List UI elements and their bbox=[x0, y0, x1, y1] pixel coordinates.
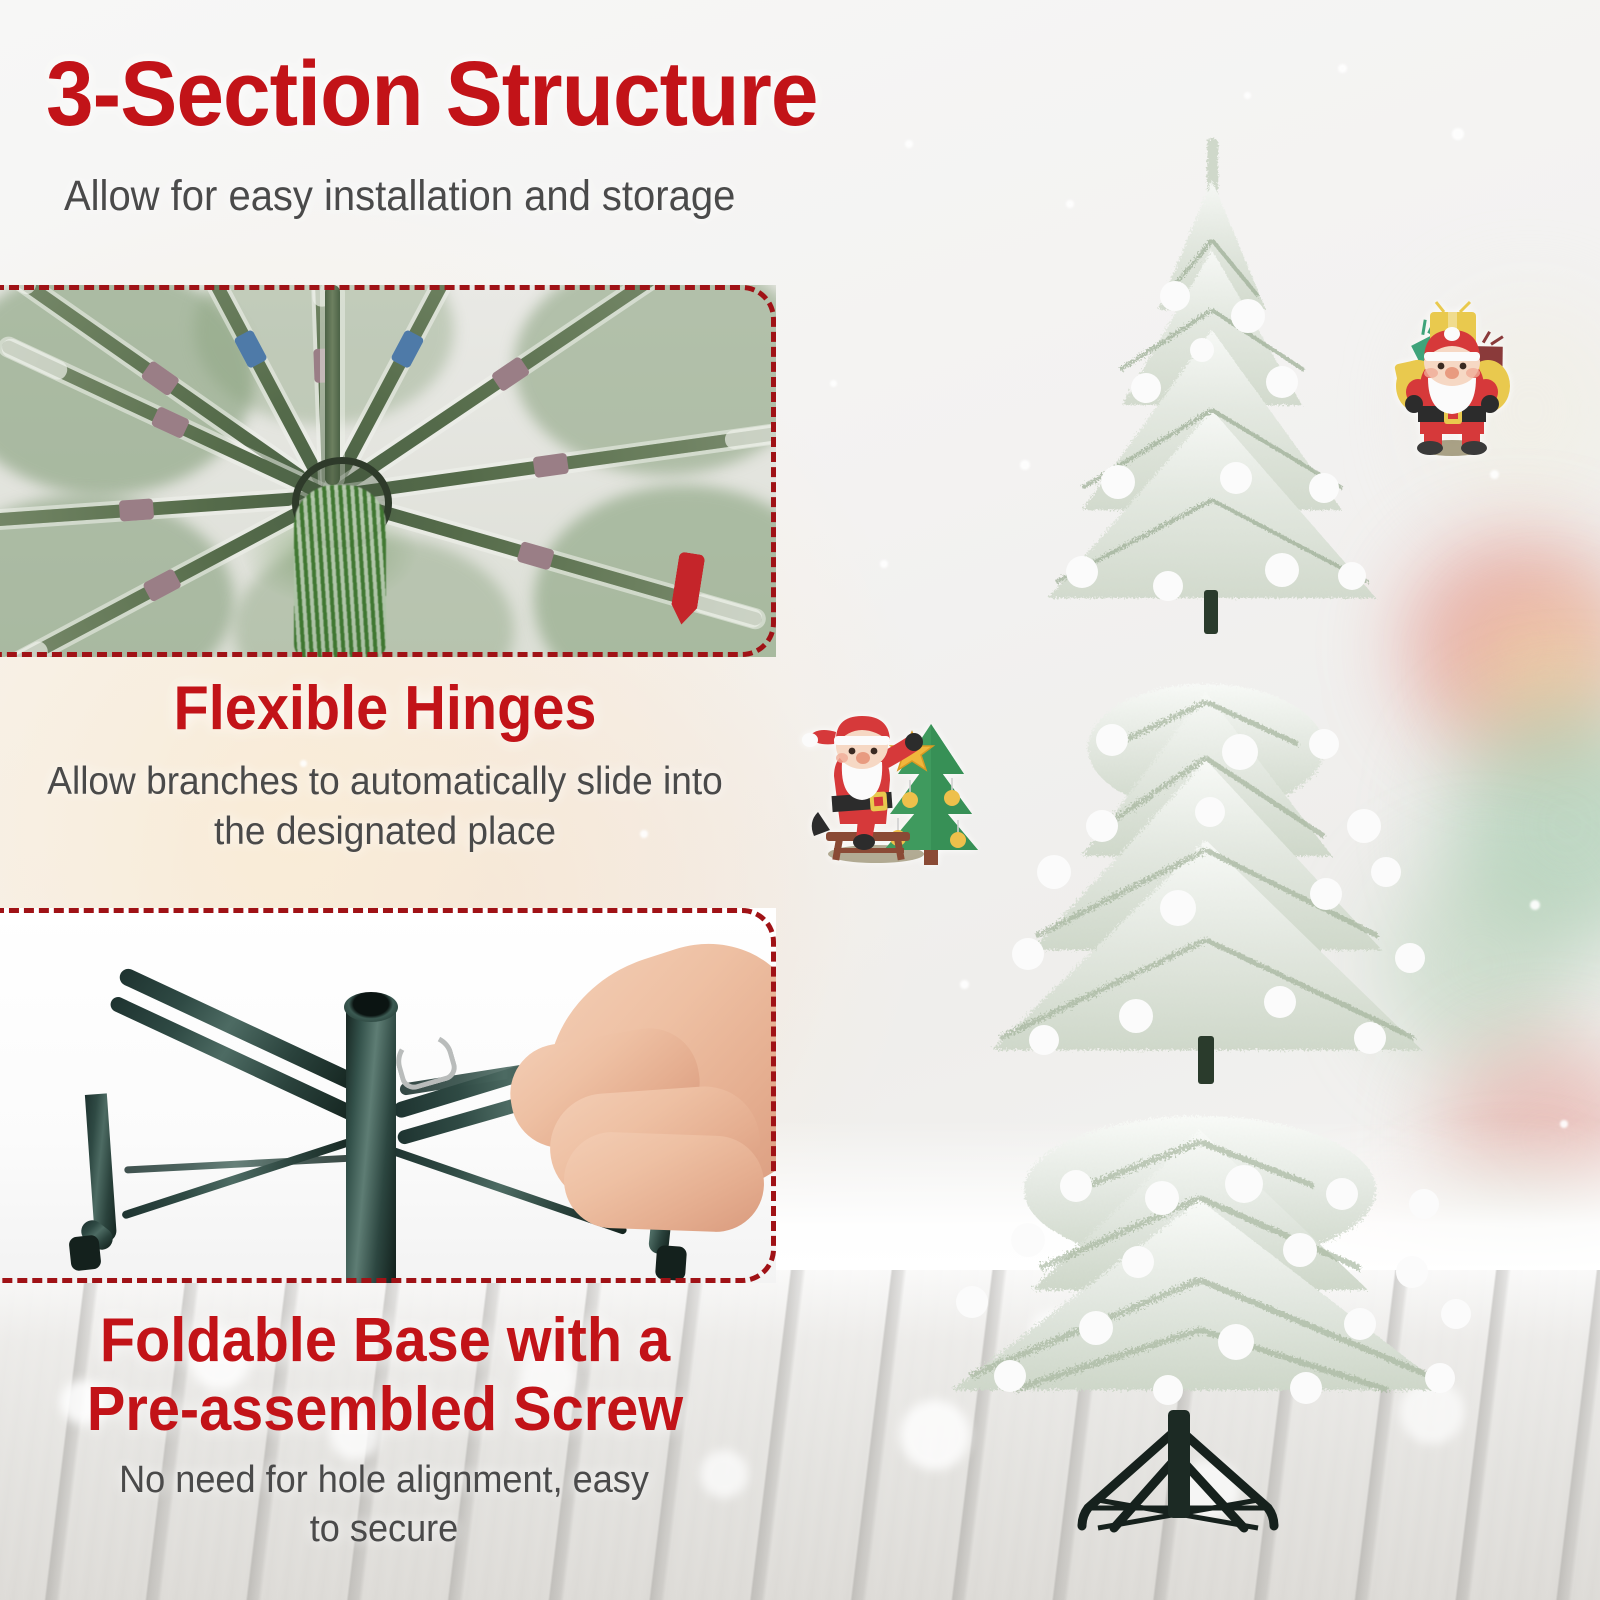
page-title: 3-Section Structure bbox=[46, 48, 818, 140]
fingers bbox=[562, 1131, 765, 1234]
feature-subtitle-line: Allow branches to automatically slide in… bbox=[29, 757, 742, 807]
santa-decorating-tree-sticker bbox=[800, 690, 980, 865]
stand-crossbar bbox=[121, 1134, 363, 1219]
snow-fleck bbox=[1452, 128, 1464, 140]
snow-fleck bbox=[880, 560, 888, 568]
product-middle-section bbox=[940, 640, 1470, 1100]
stand-crossbar bbox=[124, 1154, 364, 1174]
foldable-base-photo bbox=[0, 908, 776, 1283]
feature-subtitle-flexible-hinges: Allow branches to automatically slide in… bbox=[29, 757, 742, 857]
feature-title-line: Pre-assembled Screw bbox=[27, 1375, 743, 1444]
feature-subtitle-foldable-base: No need for hole alignment, easy to secu… bbox=[46, 1456, 722, 1553]
feature-title-foldable-base: Foldable Base with a Pre-assembled Screw bbox=[27, 1306, 743, 1445]
stand-post-opening bbox=[344, 992, 398, 1022]
snow-fleck bbox=[830, 380, 837, 387]
feature-title-line: Foldable Base with a bbox=[27, 1306, 743, 1375]
snow-fleck bbox=[1560, 1120, 1568, 1128]
hinge-closeup-photo bbox=[0, 285, 776, 657]
snow-fleck bbox=[1338, 64, 1347, 73]
feature-subtitle-line: the designated place bbox=[29, 807, 742, 857]
snow-fleck bbox=[1530, 900, 1540, 910]
stand-foot bbox=[68, 1235, 101, 1272]
stand-center-post bbox=[346, 1000, 396, 1283]
snow-fleck bbox=[905, 140, 913, 148]
product-top-section bbox=[990, 120, 1440, 640]
infographic-canvas: 3-Section Structure Allow for easy insta… bbox=[0, 0, 1600, 1600]
green-needle-tuft bbox=[294, 485, 386, 657]
feature-subtitle-line: No need for hole alignment, easy bbox=[46, 1456, 722, 1505]
stand-foot bbox=[655, 1245, 687, 1281]
foldable-base-photo-panel bbox=[0, 908, 776, 1283]
page-subtitle: Allow for easy installation and storage bbox=[64, 172, 735, 221]
hinge-photo-panel bbox=[0, 285, 776, 657]
tree-stand bbox=[1058, 1400, 1298, 1550]
snow-fleck bbox=[1244, 92, 1251, 99]
feature-title-flexible-hinges: Flexible Hinges bbox=[27, 676, 743, 741]
snow-fleck bbox=[1490, 470, 1499, 479]
center-pole bbox=[325, 285, 340, 485]
feature-subtitle-line: to secure bbox=[46, 1505, 722, 1554]
santa-with-gifts-sticker bbox=[1380, 300, 1525, 460]
